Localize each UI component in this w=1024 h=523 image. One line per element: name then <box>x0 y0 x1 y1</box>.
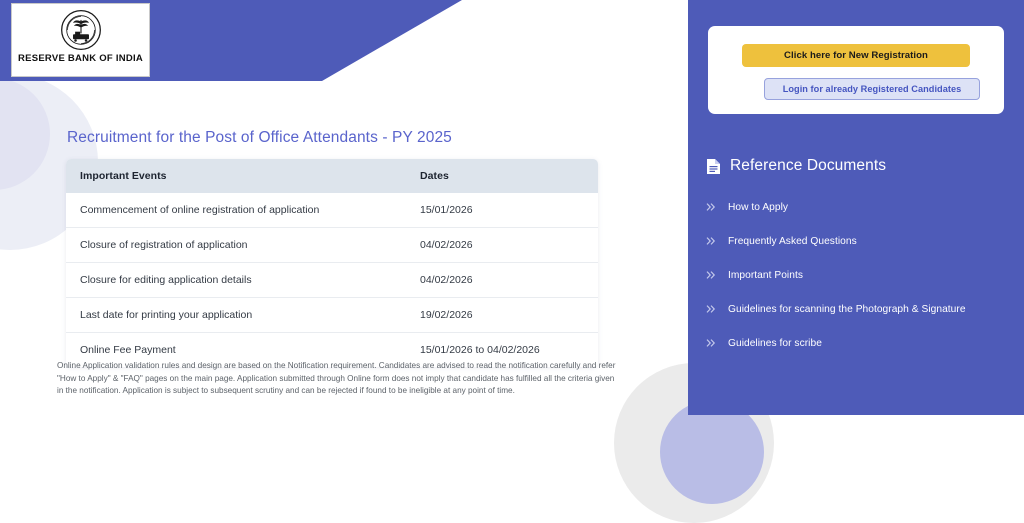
reference-link-guidelines-photograph-signature[interactable]: Guidelines for scanning the Photograph &… <box>706 292 1016 326</box>
reference-link-guidelines-for-scribe[interactable]: Guidelines for scribe <box>706 326 1016 360</box>
table-header: Important Events Dates <box>66 159 598 193</box>
login-registered-candidates-button[interactable]: Login for already Registered Candidates <box>764 78 980 100</box>
column-header-dates: Dates <box>420 159 598 193</box>
reference-link-label: Frequently Asked Questions <box>728 236 857 247</box>
event-date: 04/02/2026 <box>420 228 598 263</box>
reference-link-how-to-apply[interactable]: How to Apply <box>706 190 1016 224</box>
event-date: 19/02/2026 <box>420 298 598 333</box>
reference-link-label: How to Apply <box>728 202 788 213</box>
right-panel: Click here for New Registration Login fo… <box>688 0 1024 415</box>
reference-link-label: Guidelines for scanning the Photograph &… <box>728 304 966 315</box>
event-name: Last date for printing your application <box>66 298 420 333</box>
table-header-row: Important Events Dates <box>66 159 598 193</box>
main-content: Recruitment for the Post of Office Atten… <box>0 81 688 415</box>
table-row: Commencement of online registration of a… <box>66 193 598 228</box>
table-row: Closure for editing application details … <box>66 263 598 298</box>
event-name: Closure of registration of application <box>66 228 420 263</box>
rbi-logo-text: RESERVE BANK OF INDIA <box>18 53 143 64</box>
table-body: Commencement of online registration of a… <box>66 193 598 367</box>
double-chevron-right-icon <box>706 202 716 212</box>
reference-link-frequently-asked-questions[interactable]: Frequently Asked Questions <box>706 224 1016 258</box>
reference-link-important-points[interactable]: Important Points <box>706 258 1016 292</box>
event-name: Commencement of online registration of a… <box>66 193 420 228</box>
event-date: 15/01/2026 <box>420 193 598 228</box>
rbi-logo: RESERVE BANK OF INDIA <box>11 3 150 77</box>
important-events-table: Important Events Dates Commencement of o… <box>66 159 598 367</box>
double-chevron-right-icon <box>706 304 716 314</box>
double-chevron-right-icon <box>706 270 716 280</box>
action-card: Click here for New Registration Login fo… <box>708 26 1004 114</box>
new-registration-button[interactable]: Click here for New Registration <box>742 44 970 67</box>
event-date: 04/02/2026 <box>420 263 598 298</box>
table-row: Last date for printing your application … <box>66 298 598 333</box>
double-chevron-right-icon <box>706 236 716 246</box>
reference-documents-label: Reference Documents <box>730 157 886 175</box>
column-header-events: Important Events <box>66 159 420 193</box>
rbi-emblem-icon <box>60 9 102 51</box>
event-name: Closure for editing application details <box>66 263 420 298</box>
document-icon <box>706 158 721 175</box>
page-title: Recruitment for the Post of Office Atten… <box>67 129 452 147</box>
decorative-circle-bottom-lavender <box>660 400 764 504</box>
important-events-card: Important Events Dates Commencement of o… <box>66 159 598 367</box>
reference-link-label: Important Points <box>728 270 803 281</box>
reference-link-label: Guidelines for scribe <box>728 338 822 349</box>
double-chevron-right-icon <box>706 338 716 348</box>
reference-documents-heading: Reference Documents <box>706 157 886 175</box>
table-row: Closure of registration of application 0… <box>66 228 598 263</box>
reference-documents-list: How to Apply Frequently Asked Questions … <box>706 190 1016 360</box>
disclaimer-text: Online Application validation rules and … <box>57 360 617 398</box>
